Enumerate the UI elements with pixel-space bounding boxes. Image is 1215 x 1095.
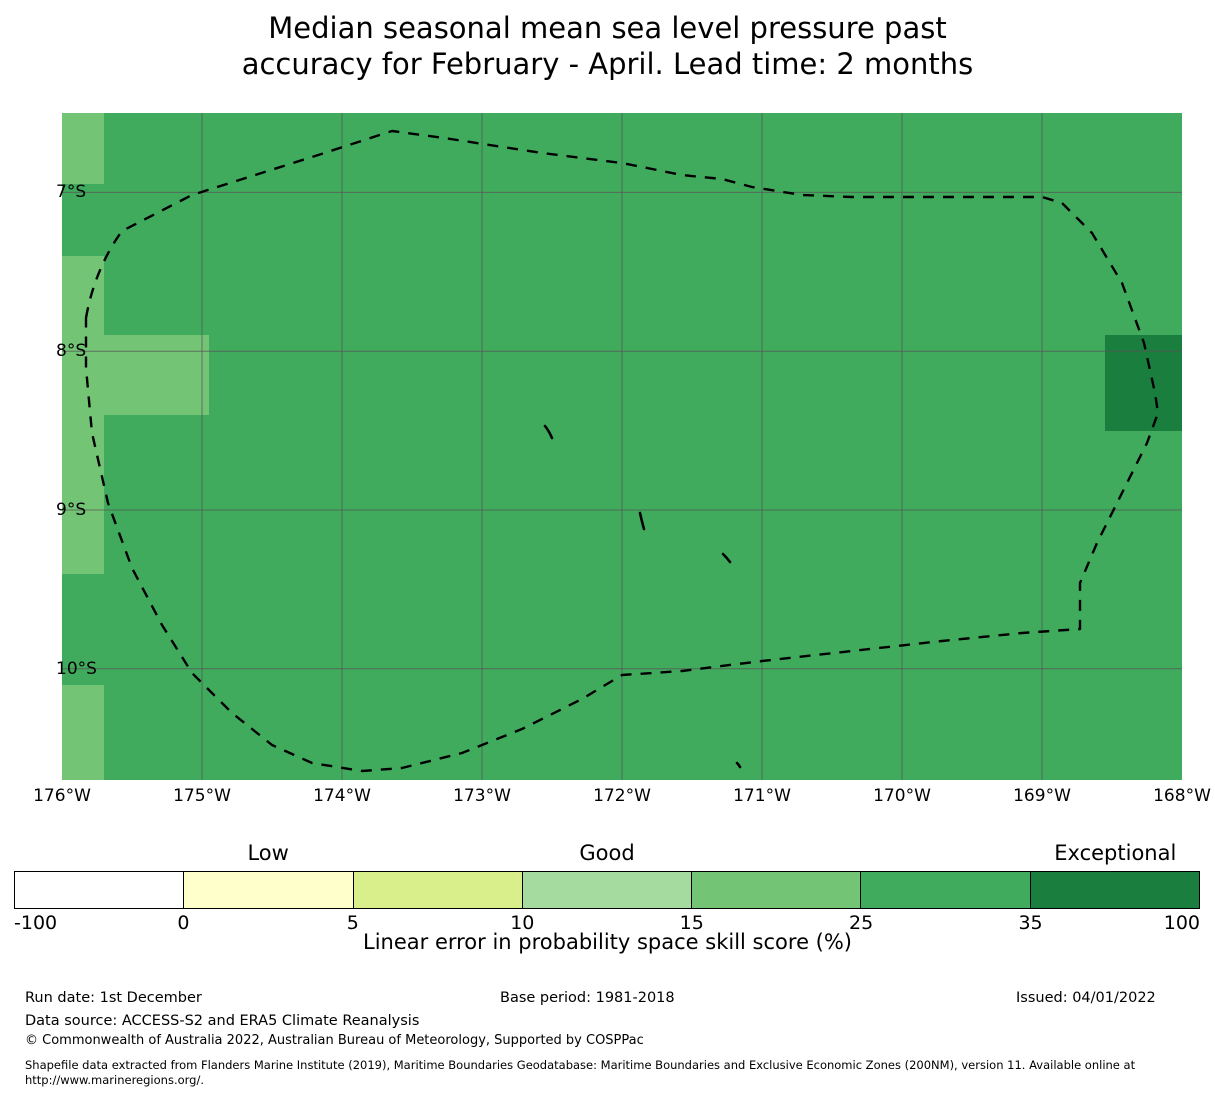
colorbar-segment: [1031, 872, 1199, 908]
colorbar-segment: [184, 872, 353, 908]
colorbar-segment: [861, 872, 1030, 908]
colorbar-segment: [15, 872, 184, 908]
colorbar-axis-label: Linear error in probability space skill …: [0, 930, 1215, 954]
footer-base-period: Base period: 1981-2018: [500, 990, 675, 1006]
map-canvas: [62, 113, 1182, 780]
x-tick-label: 169°W: [1013, 786, 1071, 806]
footer-issued-date: Issued: 04/01/2022: [1016, 990, 1156, 1006]
x-tick-label: 174°W: [313, 786, 371, 806]
x-tick-label: 175°W: [173, 786, 231, 806]
heatmap-cell: [62, 399, 104, 574]
title-line-1: Median seasonal mean sea level pressure …: [0, 10, 1215, 46]
x-tick-label: 172°W: [593, 786, 651, 806]
x-tick-label: 170°W: [873, 786, 931, 806]
footer-run-date: Run date: 1st December: [25, 990, 202, 1006]
chart-page: Median seasonal mean sea level pressure …: [0, 0, 1215, 1095]
colorbar-category-label: Low: [247, 841, 288, 865]
heatmap-cell: [62, 256, 104, 399]
x-tick-label: 168°W: [1153, 786, 1211, 806]
map-plot-area: [62, 113, 1182, 780]
heatmap-cell: [1105, 335, 1182, 430]
heatmap-cell: [62, 113, 104, 184]
x-tick-label: 176°W: [33, 786, 91, 806]
colorbar-segment: [354, 872, 523, 908]
title-line-2: accuracy for February - April. Lead time…: [0, 46, 1215, 82]
colorbar-category-label: Good: [579, 841, 634, 865]
colorbar-segment: [523, 872, 692, 908]
footer-shapefile-attribution: Shapefile data extracted from Flanders M…: [25, 1058, 1200, 1088]
colorbar-gradient[interactable]: [14, 871, 1200, 909]
heatmap-cell: [62, 685, 104, 780]
heatmap-background-cells: [62, 113, 1182, 780]
footer-copyright: © Commonwealth of Australia 2022, Austra…: [25, 1033, 644, 1048]
x-tick-label: 171°W: [733, 786, 791, 806]
x-tick-label: 173°W: [453, 786, 511, 806]
footer-data-source: Data source: ACCESS-S2 and ERA5 Climate …: [25, 1013, 419, 1029]
colorbar-segment: [692, 872, 861, 908]
colorbar-category-label: Exceptional: [1054, 841, 1176, 865]
colorbar[interactable]: [14, 871, 1200, 909]
heatmap-cell: [104, 335, 209, 414]
page-title: Median seasonal mean sea level pressure …: [0, 10, 1215, 82]
